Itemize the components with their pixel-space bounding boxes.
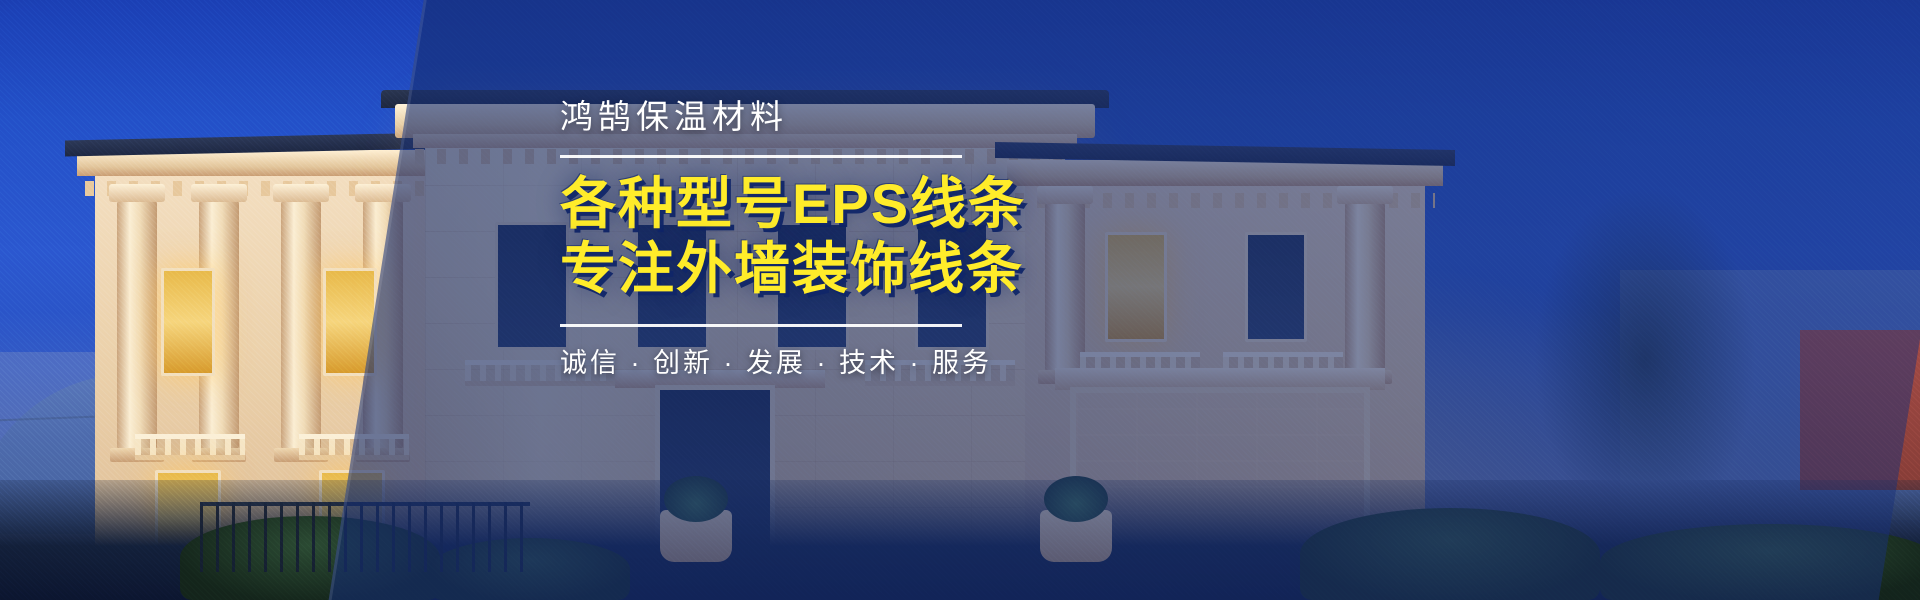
brand-divider: [560, 155, 962, 158]
villa-window: [495, 222, 569, 350]
brand-name: 鸿鹄保温材料: [560, 96, 1320, 139]
iron-railing: [200, 502, 530, 572]
hedge: [1300, 508, 1600, 600]
tagline: 诚信 · 创新 · 发展 · 技术 · 服务: [560, 341, 1320, 380]
red-structure-right: [1800, 330, 1920, 490]
villa-column: [117, 200, 157, 450]
villa-column: [1345, 202, 1385, 372]
headline-line-1: 各种型号EPS线条: [560, 172, 1320, 237]
planter: [660, 510, 732, 562]
banner-content: 鸿鹄保温材料 各种型号EPS线条 专注外墙装饰线条 诚信 · 创新 · 发展 ·…: [560, 96, 1320, 380]
villa-column: [281, 200, 321, 450]
hedge: [1600, 524, 1920, 600]
tagline-divider: [560, 324, 962, 327]
tree-right: [1530, 180, 1760, 480]
villa-window-lit: [161, 268, 215, 376]
planter: [1040, 510, 1112, 562]
headline-line-2: 专注外墙装饰线条: [560, 237, 1320, 302]
villa-balustrade: [135, 434, 245, 460]
hero-banner: 鸿鹄保温材料 各种型号EPS线条 专注外墙装饰线条 诚信 · 创新 · 发展 ·…: [0, 0, 1920, 600]
